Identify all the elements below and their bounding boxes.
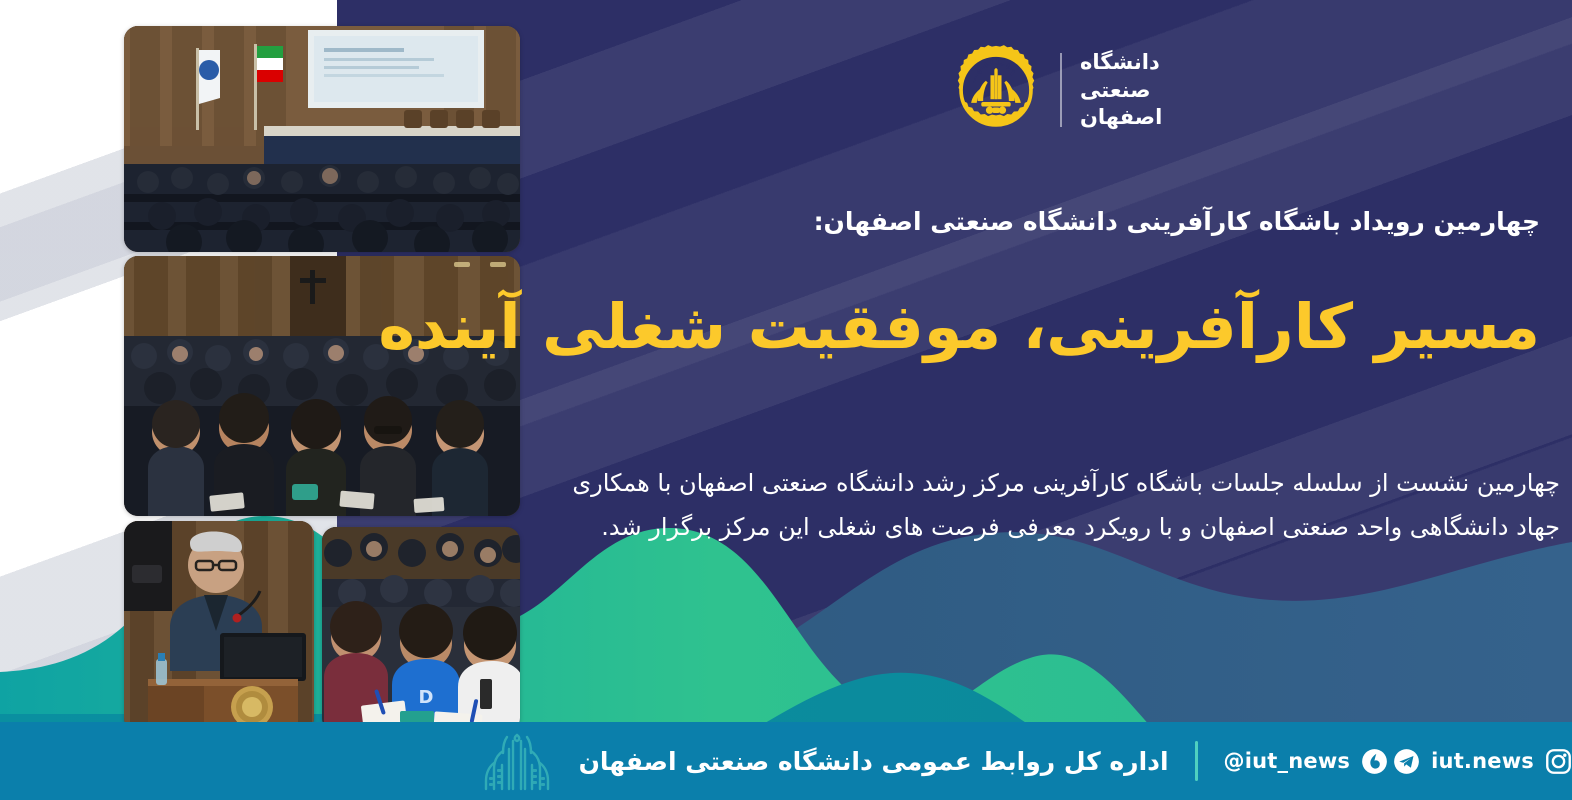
instagram-icon[interactable] [1545, 748, 1572, 775]
event-title: مسیر کارآفرینی، موفقیت شغلی آینده [560, 291, 1540, 362]
brand-name-line-3: اصفهان [1080, 104, 1162, 130]
event-description: چهارمین نشست از سلسله جلسات باشگاه کارآف… [560, 462, 1560, 549]
telegram-icon[interactable] [1393, 748, 1420, 775]
headline-block: چهارمین رویداد باشگاه کارآفرینی دانشگاه … [560, 205, 1540, 362]
brand-divider [1060, 53, 1062, 127]
brand-name-line-2: صنعتی [1080, 77, 1151, 103]
brand-name: دانشگاه صنعتی اصفهان [1080, 49, 1162, 130]
event-kicker: چهارمین رویداد باشگاه کارآفرینی دانشگاه … [560, 205, 1540, 239]
photo-speaker-at-podium [124, 521, 314, 732]
photo-lecture-hall-wide [124, 26, 520, 252]
footer-bar: iut.news @iut_ne [0, 722, 1572, 800]
instagram-handle[interactable]: iut.news [1431, 749, 1534, 773]
messenger-handle[interactable]: @iut_news [1224, 749, 1351, 773]
svg-text:D: D [419, 687, 434, 708]
eitaa-icon[interactable] [1361, 748, 1388, 775]
iut-gear-palm-logo-icon [950, 44, 1042, 136]
banner-canvas: D [0, 0, 1572, 800]
public-relations-label: اداره کل روابط عمومی دانشگاه صنعتی اصفها… [579, 747, 1169, 776]
brand-lockup: دانشگاه صنعتی اصفهان [950, 30, 1170, 150]
messenger-icon-pair [1361, 748, 1420, 775]
photo-collage: D [0, 0, 560, 740]
iut-palm-emblem-watermark-icon [483, 729, 557, 793]
photo-students-taking-notes: D [322, 527, 520, 732]
brand-name-line-1: دانشگاه [1080, 49, 1160, 75]
footer-content: iut.news @iut_ne [0, 722, 1572, 800]
social-links: iut.news @iut_ne [1224, 748, 1572, 775]
footer-divider [1195, 741, 1198, 781]
